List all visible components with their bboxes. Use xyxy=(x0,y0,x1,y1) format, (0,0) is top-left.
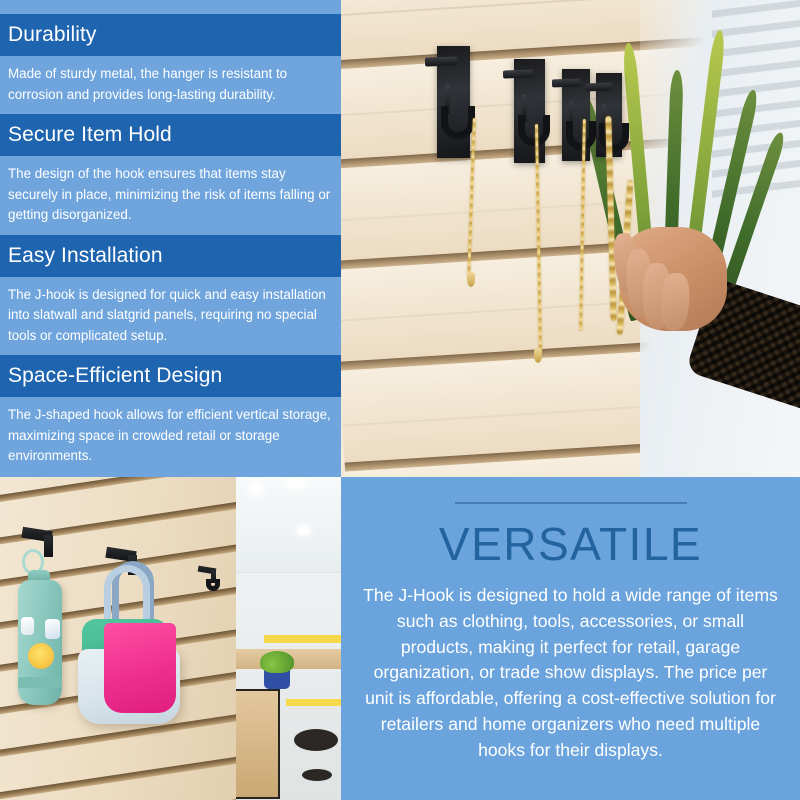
feature-list: Durability Made of sturdy metal, the han… xyxy=(0,0,341,477)
pendant-2 xyxy=(534,348,542,363)
feature-body-text: The J-hook is designed for quick and eas… xyxy=(8,285,333,347)
photo-slatwall-chains xyxy=(341,0,800,477)
bottle-sticker-3 xyxy=(28,643,54,669)
wood-cabinet xyxy=(236,689,280,799)
versatile-body-text: The J-Hook is designed to hold a wide ra… xyxy=(359,583,782,764)
versatile-title: VERSATILE xyxy=(359,521,782,567)
feature-body-text: The J-shaped hook allows for efficient v… xyxy=(8,405,333,467)
bottle-base-band xyxy=(18,677,62,688)
stool-seat xyxy=(294,729,338,751)
feature-body-text: The design of the hook ensures that item… xyxy=(8,164,333,226)
hand-reaching xyxy=(609,215,799,415)
feature-body-text: Made of sturdy metal, the hanger is resi… xyxy=(8,64,333,105)
versatile-body: The J-Hook is designed to hold a wide ra… xyxy=(359,583,782,764)
ceiling-light-1 xyxy=(250,485,262,492)
infographic-page: Durability Made of sturdy metal, the han… xyxy=(0,0,800,800)
feature-item-easy-installation: Easy Installation The J-hook is designed… xyxy=(0,235,341,356)
feature-body: The J-shaped hook allows for efficient v… xyxy=(0,397,341,476)
yellow-shelf xyxy=(264,635,341,643)
feature-body: The J-hook is designed for quick and eas… xyxy=(0,277,341,356)
photo-bottle-tote xyxy=(0,477,341,800)
j-hook-1 xyxy=(423,30,469,165)
feature-title: Easy Installation xyxy=(0,235,341,277)
retail-room-background xyxy=(236,477,341,800)
feature-body: The design of the hook ensures that item… xyxy=(0,156,341,235)
stool-base xyxy=(302,769,332,781)
feature-item-space-efficient-design: Space-Efficient Design The J-shaped hook… xyxy=(0,355,341,476)
feature-body: Made of sturdy metal, the hanger is resi… xyxy=(0,56,341,114)
ceiling-light-2 xyxy=(288,479,304,488)
versatile-panel: VERSATILE The J-Hook is designed to hold… xyxy=(341,477,800,800)
hook-curve xyxy=(441,106,475,139)
feature-title: Space-Efficient Design xyxy=(0,355,341,397)
ceiling-light-3 xyxy=(298,527,309,534)
tote-pink-panel xyxy=(104,623,176,713)
j-hook-empty xyxy=(198,567,220,595)
bottle-sticker-1 xyxy=(21,617,34,635)
pendant-1 xyxy=(467,272,475,287)
feature-title: Secure Item Hold xyxy=(0,114,341,156)
yellow-counter-edge xyxy=(286,699,341,706)
feature-title: Durability xyxy=(0,14,341,56)
feature-item-secure-item-hold: Secure Item Hold The design of the hook … xyxy=(0,114,341,235)
divider-rule xyxy=(455,502,687,504)
pot-greenery xyxy=(260,651,294,673)
bottle-sticker-2 xyxy=(45,619,60,639)
feature-item-durability: Durability Made of sturdy metal, the han… xyxy=(0,14,341,114)
